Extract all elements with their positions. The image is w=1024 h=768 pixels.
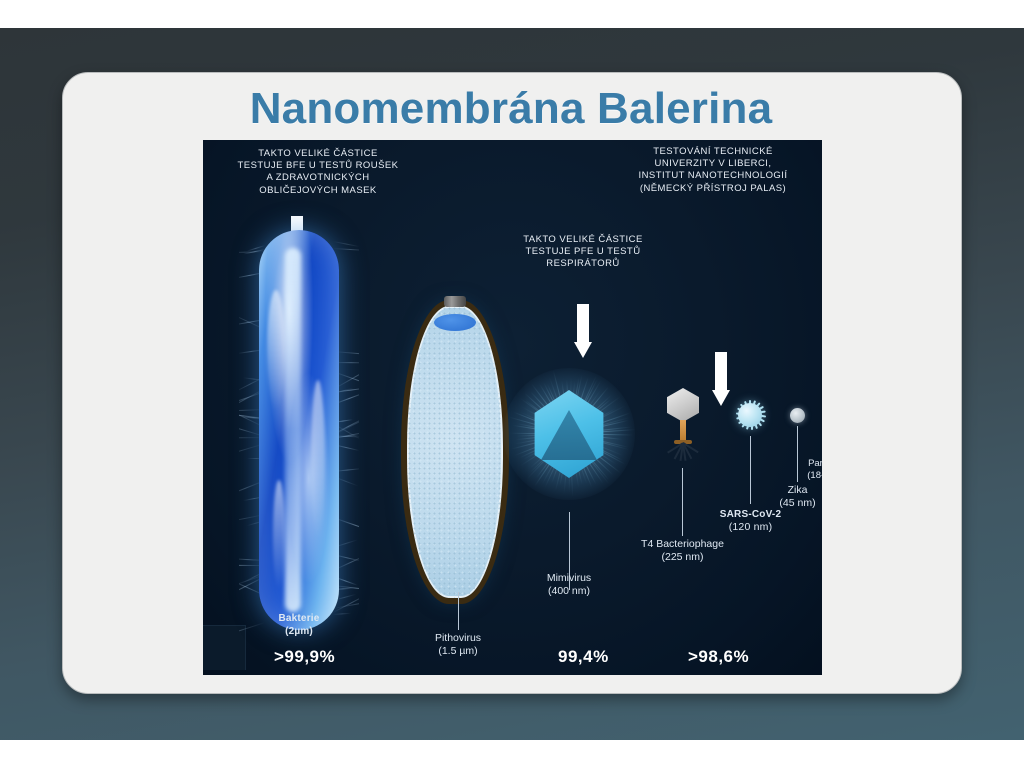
pithovirus-label: Pithovirus (1.5 µm) bbox=[393, 632, 523, 658]
pfe-annotation-line-2: TESTUJE PFE U TESTŮ bbox=[488, 246, 678, 258]
zika-figure bbox=[790, 408, 805, 423]
pithovirus-leader bbox=[458, 592, 459, 630]
mimivirus-label: Mimivirus (400 nm) bbox=[509, 572, 629, 598]
slide-stage: Nanomembrána Balerina TAKTO VELIKÉ ČÁSTI… bbox=[0, 0, 1024, 768]
zika-label-size: (45 nm) bbox=[735, 497, 822, 510]
bfe-efficiency: >99,9% bbox=[274, 647, 335, 667]
sars-cov-2-label: SARS-CoV-2 (120 nm) bbox=[683, 508, 818, 534]
pithovirus-label-size: (1.5 µm) bbox=[393, 645, 523, 658]
parvovirus-label-name: Parvovirus bbox=[763, 458, 822, 470]
tul-annotation: TESTOVÁNÍ TECHNICKÉ UNIVERZITY V LIBERCI… bbox=[608, 146, 818, 195]
pithovirus-blob bbox=[434, 314, 476, 331]
t4-label-size: (225 nm) bbox=[605, 551, 760, 564]
bfe-annotation: TAKTO VELIKÉ ČÁSTICE TESTUJE BFE U TESTŮ… bbox=[203, 148, 433, 197]
mimivirus-label-size: (400 nm) bbox=[509, 585, 629, 598]
infographic-panel: TAKTO VELIKÉ ČÁSTICE TESTUJE BFE U TESTŮ… bbox=[203, 140, 822, 675]
tul-annotation-line-2: UNIVERZITY V LIBERCI, bbox=[608, 158, 818, 170]
zika-label-name: Zika bbox=[735, 484, 822, 497]
tul-annotation-line-1: TESTOVÁNÍ TECHNICKÉ bbox=[608, 146, 818, 158]
pithovirus-figure bbox=[401, 300, 509, 604]
mimivirus-figure bbox=[503, 368, 635, 500]
nano-arrow-icon bbox=[712, 352, 730, 406]
zika-label: Zika (45 nm) bbox=[735, 484, 822, 510]
t4-label-name: T4 Bacteriophage bbox=[605, 538, 760, 551]
pfe-arrow-icon bbox=[574, 304, 592, 358]
nano-efficiency: >98,6% bbox=[688, 647, 749, 667]
pithovirus-cork bbox=[444, 296, 466, 307]
bfe-annotation-line-3: A ZDRAVOTNICKÝCH bbox=[203, 172, 433, 184]
top-margin bbox=[0, 0, 1024, 28]
pfe-annotation: TAKTO VELIKÉ ČÁSTICE TESTUJE PFE U TESTŮ… bbox=[488, 234, 678, 271]
t4-bacteriophage-figure bbox=[655, 388, 711, 462]
sars-label-size: (120 nm) bbox=[683, 521, 818, 534]
bakterie-figure bbox=[239, 216, 359, 646]
tul-annotation-line-4: (NĚMECKÝ PŘÍSTROJ PALAS) bbox=[608, 183, 818, 195]
parvovirus-label-size: (18-28 nm) bbox=[763, 470, 822, 482]
sars-cov-2-figure bbox=[733, 398, 767, 432]
pfe-annotation-line-3: RESPIRÁTORŮ bbox=[488, 258, 678, 270]
bacterium-body bbox=[259, 230, 339, 630]
tul-annotation-line-3: INSTITUT NANOTECHNOLOGIÍ bbox=[608, 170, 818, 182]
bfe-annotation-line-1: TAKTO VELIKÉ ČÁSTICE bbox=[203, 148, 433, 160]
bakterie-label-name: Bakterie bbox=[239, 612, 359, 625]
mimivirus-label-name: Mimivirus bbox=[509, 572, 629, 585]
bakterie-label: Bakterie (2µm) bbox=[239, 612, 359, 638]
pfe-annotation-line-1: TAKTO VELIKÉ ČÁSTICE bbox=[488, 234, 678, 246]
pfe-efficiency: 99,4% bbox=[558, 647, 609, 667]
bfe-annotation-line-4: OBLIČEJOVÝCH MASEK bbox=[203, 185, 433, 197]
bakterie-label-size: (2µm) bbox=[239, 625, 359, 638]
t4-bacteriophage-label: T4 Bacteriophage (225 nm) bbox=[605, 538, 760, 564]
page-title: Nanomembrána Balerina bbox=[62, 78, 960, 140]
pithovirus-label-name: Pithovirus bbox=[393, 632, 523, 645]
bottom-margin bbox=[0, 740, 1024, 768]
bfe-annotation-line-2: TESTUJE BFE U TESTŮ ROUŠEK bbox=[203, 160, 433, 172]
parvovirus-label: Parvovirus (18-28 nm) bbox=[763, 458, 822, 482]
